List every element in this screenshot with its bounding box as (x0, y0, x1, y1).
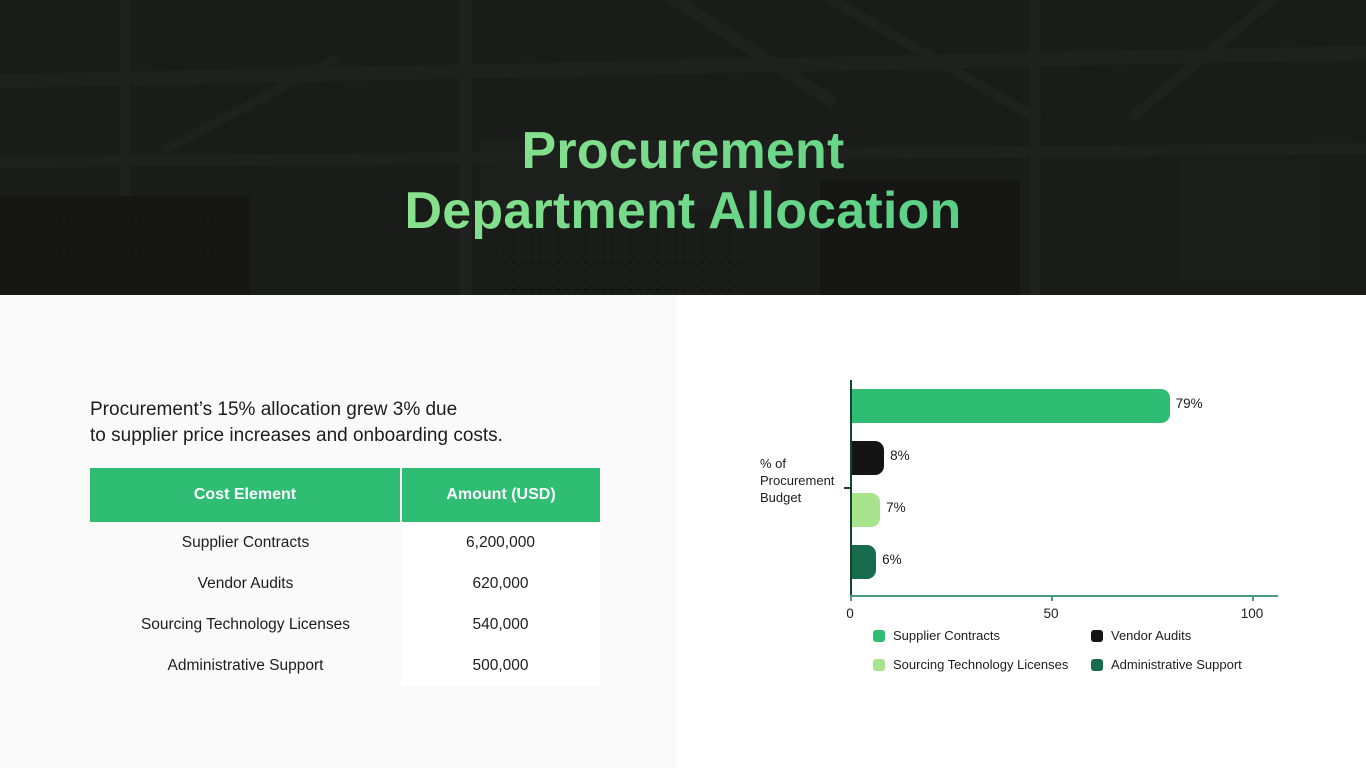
cell-amount: 620,000 (401, 563, 600, 604)
cost-breakdown-table: Cost Element Amount (USD) Supplier Contr… (90, 468, 600, 686)
bar-value-label: 6% (882, 552, 902, 567)
x-axis-tick-label: 50 (1043, 606, 1058, 621)
legend-color-swatch (873, 630, 885, 642)
cell-amount: 540,000 (401, 604, 600, 645)
legend-color-swatch (1091, 659, 1103, 671)
legend-color-swatch (873, 659, 885, 671)
cell-cost-element: Vendor Audits (90, 563, 401, 604)
x-axis-tick-label: 0 (846, 606, 854, 621)
x-axis-tick (1252, 595, 1254, 601)
table-row: Vendor Audits 620,000 (90, 563, 600, 604)
legend-item[interactable]: Administrative Support (1091, 657, 1293, 672)
x-axis-line (850, 595, 1278, 597)
cell-cost-element: Supplier Contracts (90, 522, 401, 563)
x-axis-tick (1051, 595, 1053, 601)
legend-item[interactable]: Supplier Contracts (873, 628, 1091, 643)
bar (852, 441, 884, 475)
bar (852, 493, 880, 527)
chart-plot-area: 79%8%7%6% 050100 (850, 380, 1252, 595)
bar-value-label: 79% (1176, 396, 1203, 411)
table-header-row: Cost Element Amount (USD) (90, 468, 600, 522)
bar-value-label: 8% (890, 448, 910, 463)
chart-legend: Supplier ContractsVendor AuditsSourcing … (873, 628, 1293, 672)
allocation-bar-chart: % of Procurement Budget 79%8%7%6% 050100… (676, 295, 1366, 768)
legend-item[interactable]: Vendor Audits (1091, 628, 1293, 643)
legend-color-swatch (1091, 630, 1103, 642)
cell-amount: 6,200,000 (401, 522, 600, 563)
bar (852, 545, 876, 579)
cell-cost-element: Sourcing Technology Licenses (90, 604, 401, 645)
bar-value-label: 7% (886, 500, 906, 515)
table-row: Sourcing Technology Licenses 540,000 (90, 604, 600, 645)
legend-label: Administrative Support (1111, 657, 1242, 672)
legend-item[interactable]: Sourcing Technology Licenses (873, 657, 1091, 672)
cell-amount: 500,000 (401, 645, 600, 686)
legend-label: Vendor Audits (1111, 628, 1191, 643)
y-axis-tick (844, 487, 850, 489)
table-row: Supplier Contracts 6,200,000 (90, 522, 600, 563)
column-header-amount: Amount (USD) (401, 468, 600, 522)
table-row: Administrative Support 500,000 (90, 645, 600, 686)
legend-label: Sourcing Technology Licenses (893, 657, 1068, 672)
y-axis-title: % of Procurement Budget (760, 455, 846, 506)
cell-cost-element: Administrative Support (90, 645, 401, 686)
lead-paragraph: Procurement’s 15% allocation grew 3% due… (90, 397, 630, 449)
bar (852, 389, 1170, 423)
x-axis-tick (850, 595, 852, 601)
x-axis-tick-label: 100 (1241, 606, 1264, 621)
column-header-cost-element: Cost Element (90, 468, 401, 522)
legend-label: Supplier Contracts (893, 628, 1000, 643)
page-title: Procurement Department Allocation (0, 121, 1366, 241)
header-banner: Procurement Department Allocation (0, 0, 1366, 295)
